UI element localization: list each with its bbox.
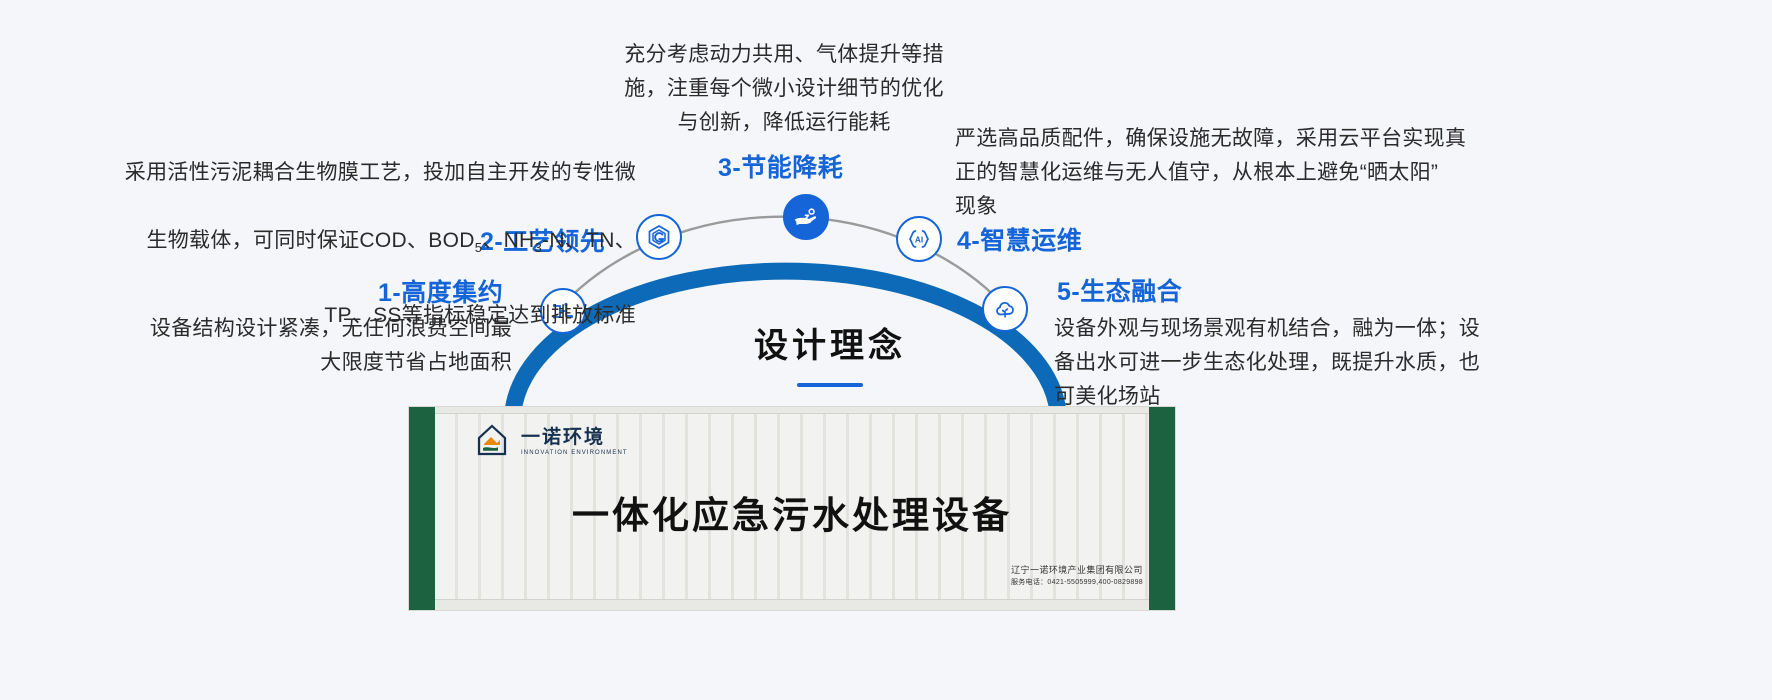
point-3-label[interactable]: 3-节能降耗 (718, 148, 843, 184)
company-info: 辽宁一诺环境产业集团有限公司 服务电话：0421-5505999,400-082… (1011, 564, 1143, 588)
point-3-description: 充分考虑动力共用、气体提升等措 施，注重每个微小设计细节的优化 与创新，降低运行… (604, 38, 964, 140)
infographic-canvas: AI 1-高度集约 2-工艺领先 3-节能降耗 4-智慧运维 5-生态融合 采用… (0, 0, 1772, 700)
container-top-rail (435, 407, 1149, 414)
point-1-description: 设备结构设计紧凑，无任何浪费空间最 大限度节省占地面积 (112, 312, 512, 380)
center-title-block: 设计理念 (700, 318, 960, 387)
brand-wordmark: 一诺环境 INNOVATION ENVIRONMENT (521, 428, 628, 456)
point-5-description: 设备外观与现场景观有机结合，融为一体；设 备出水可进一步生态化处理，既提升水质，… (1054, 312, 1534, 414)
container-bottom-rail (435, 599, 1149, 610)
hand-energy-icon (792, 203, 820, 231)
point-2-icon-node[interactable] (636, 214, 682, 260)
point-2-desc-line-2: 生物载体，可同时保证COD、BOD5、NH3-N、TN、 (46, 224, 636, 265)
product-title: 一体化应急污水处理设备 (409, 485, 1175, 539)
p2-l2-a: 生物载体，可同时保证COD、BOD (146, 229, 474, 252)
point-2-desc-line-1: 采用活性污泥耦合生物膜工艺，投加自主开发的专性微 (46, 156, 636, 190)
brand-name-en: INNOVATION ENVIRONMENT (521, 450, 628, 456)
hexagon-spiral-icon (645, 223, 673, 251)
point-4-label[interactable]: 4-智慧运维 (957, 221, 1082, 257)
point-5-label[interactable]: 5-生态融合 (1057, 272, 1182, 308)
brand-logo: 一诺环境 INNOVATION ENVIRONMENT (471, 423, 628, 461)
product-container-graphic: 一诺环境 INNOVATION ENVIRONMENT 一体化应急污水处理设备 … (408, 406, 1176, 611)
point-4-description: 严选高品质配件，确保设施无故障，采用云平台实现真 正的智慧化运维与无人值守，从根… (955, 122, 1555, 224)
mountain-wave-logo-icon (471, 423, 513, 461)
page-title: 设计理念 (700, 318, 960, 367)
point-5-icon-node[interactable] (982, 286, 1028, 332)
company-name: 辽宁一诺环境产业集团有限公司 (1011, 564, 1143, 578)
point-3-icon-node[interactable] (783, 194, 829, 240)
ai-chip-icon: AI (905, 225, 933, 253)
title-underline-bar (797, 383, 863, 387)
p2-l2-sub2: 3 (535, 240, 543, 255)
point-4-icon-node[interactable]: AI (896, 216, 942, 262)
eco-leaf-cloud-icon (991, 295, 1019, 323)
brand-name-cn: 一诺环境 (521, 428, 628, 447)
p2-l2-b: 、NH (482, 229, 534, 252)
p2-l2-c: -N、TN、 (542, 229, 636, 252)
svg-text:AI: AI (915, 234, 923, 244)
company-phone: 服务电话：0421-5505999,400-0829898 (1011, 578, 1143, 589)
